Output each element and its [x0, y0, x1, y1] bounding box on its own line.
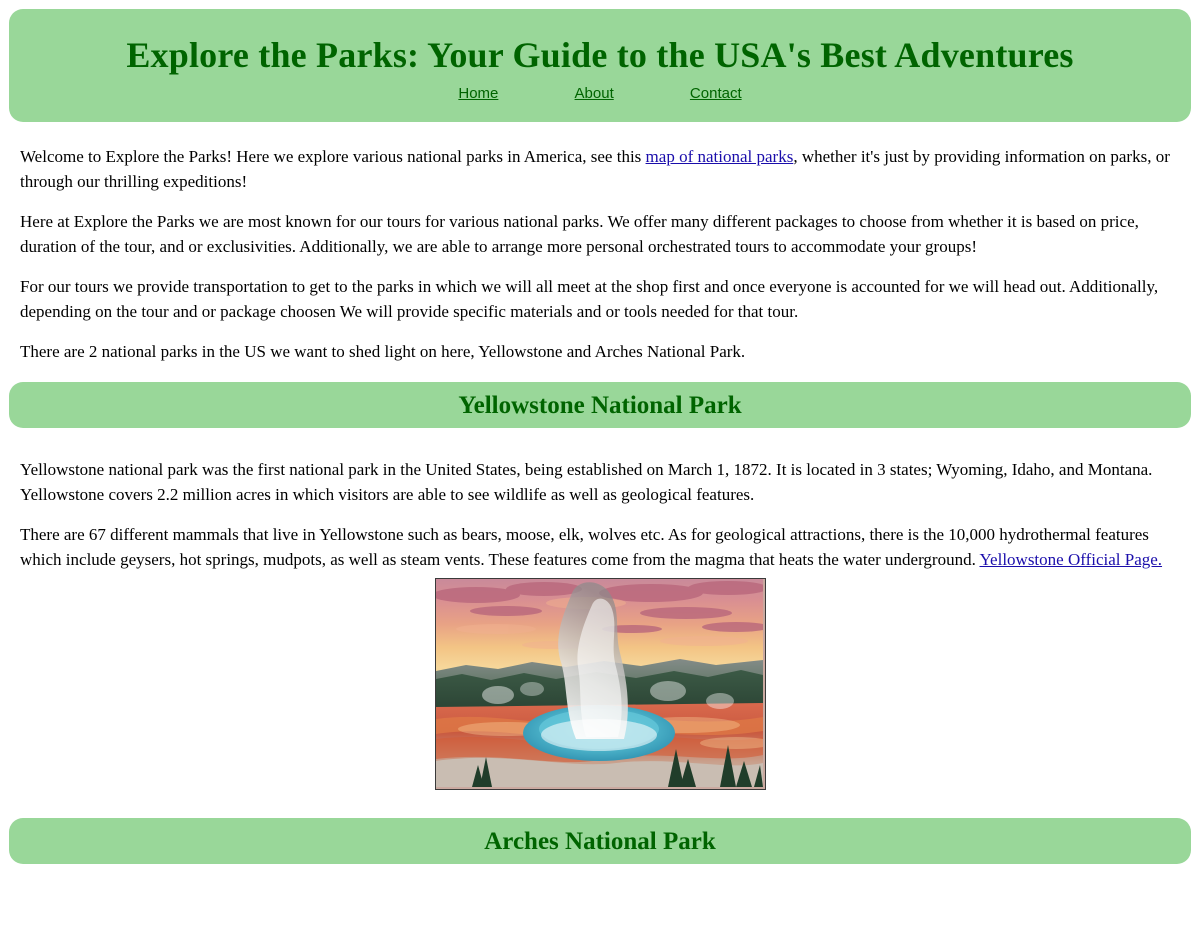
arches-heading-text: Arches National Park: [484, 829, 715, 854]
intro-paragraph-4: There are 2 national parks in the US we …: [20, 339, 1180, 364]
yellowstone-section-heading: Yellowstone National Park: [9, 382, 1191, 428]
section-spacer: [0, 428, 1200, 457]
yellowstone-paragraph-2: There are 67 different mammals that live…: [20, 522, 1180, 572]
site-header: Explore the Parks: Your Guide to the USA…: [9, 9, 1191, 122]
yellowstone-paragraph-1: Yellowstone national park was the first …: [20, 457, 1180, 507]
paragraph-spacer: [20, 259, 1180, 274]
nav-link-home[interactable]: Home: [458, 85, 498, 102]
intro-section: Welcome to Explore the Parks! Here we ex…: [20, 122, 1180, 364]
page-title: Explore the Parks: Your Guide to the USA…: [9, 10, 1191, 76]
intro-paragraph-3: For our tours we provide transportation …: [20, 274, 1180, 324]
arches-section-heading: Arches National Park: [9, 818, 1191, 864]
section-spacer: [0, 364, 1200, 382]
yellowstone-heading-text: Yellowstone National Park: [458, 393, 741, 418]
paragraph-spacer: [20, 507, 1180, 522]
intro-paragraph-2: Here at Explore the Parks we are most kn…: [20, 209, 1180, 259]
intro-paragraph-1: Welcome to Explore the Parks! Here we ex…: [20, 144, 1180, 194]
nav-link-contact[interactable]: Contact: [690, 85, 742, 102]
paragraph-spacer: [20, 324, 1180, 339]
main-navigation: Home About Contact: [9, 85, 1191, 102]
map-of-national-parks-link[interactable]: map of national parks: [646, 147, 794, 166]
main-content: Welcome to Explore the Parks! Here we ex…: [0, 122, 1200, 364]
section-spacer: [0, 790, 1200, 818]
photo-artwork: [436, 579, 763, 787]
paragraph-spacer: [20, 194, 1180, 209]
yellowstone-figure: [20, 572, 1180, 790]
yellowstone-content: Yellowstone national park was the first …: [0, 457, 1200, 790]
yellowstone-official-page-link[interactable]: Yellowstone Official Page.: [979, 550, 1162, 569]
intro-p1-text-before-link: Welcome to Explore the Parks! Here we ex…: [20, 147, 646, 166]
nav-link-about[interactable]: About: [575, 85, 614, 102]
grand-prismatic-spring-photo: [435, 578, 766, 790]
